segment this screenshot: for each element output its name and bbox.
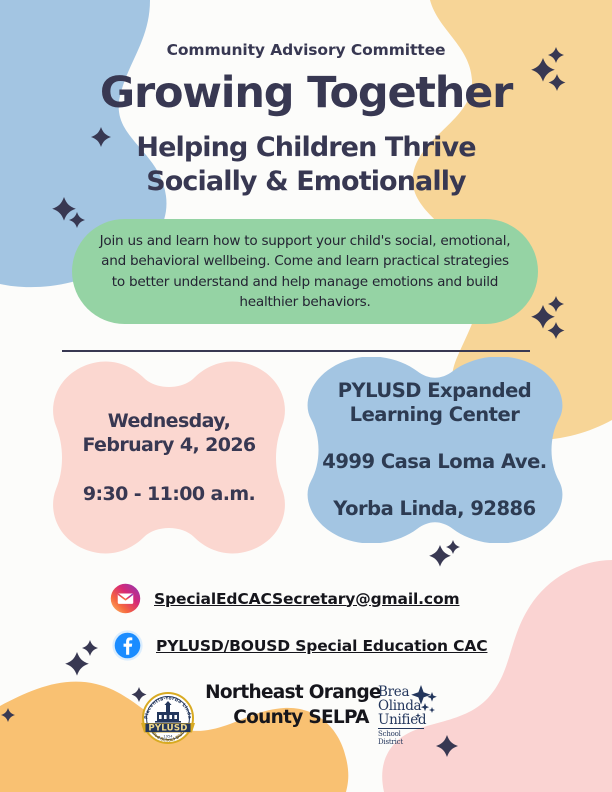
description-pill: Join us and learn how to support your ch… [72, 219, 538, 324]
kicker-text: Community Advisory Committee [0, 41, 612, 59]
contact-facebook-row[interactable]: PYLUSD/BOUSD Special Education CAC [112, 630, 487, 661]
page-title: Growing Together [0, 70, 612, 116]
facebook-icon[interactable] [112, 630, 143, 661]
selpa-line-2: County SELPA [214, 706, 388, 731]
address-line-1: 4999 Casa Loma Ave. [293, 450, 576, 475]
event-time: 9:30 - 11:00 a.m. [44, 483, 294, 505]
venue-line-2: Learning Center [293, 403, 576, 428]
contact-email-row[interactable]: SpecialEdCACSecretary@gmail.com [110, 583, 459, 614]
description-text: Join us and learn how to support your ch… [94, 231, 516, 313]
pylusd-banner-text: PYLUSD [148, 724, 187, 734]
brea-subtitle: School District [378, 728, 424, 746]
page-subtitle: Helping Children Thrive Socially & Emoti… [0, 131, 612, 199]
pylusd-year: 1954 [163, 735, 173, 739]
selpa-title: Northeast Orange County SELPA [198, 681, 388, 731]
selpa-line-1: Northeast Orange [198, 681, 388, 706]
pylusd-logo: Placentia-Yorba Linda Unified School Dis… [135, 690, 201, 746]
venue-line-1: PYLUSD Expanded [293, 379, 576, 404]
facebook-page-link[interactable]: PYLUSD/BOUSD Special Education CAC [156, 637, 487, 655]
address-line-2: Yorba Linda, 92886 [293, 497, 576, 522]
brea-olinda-logo: Brea Olinda Unified School District [378, 686, 442, 748]
email-icon[interactable] [110, 583, 141, 614]
flyer-page: Community Advisory Committee Growing Tog… [0, 0, 612, 792]
subtitle-line-2: Socially & Emotionally [0, 165, 612, 199]
event-date-card: Wednesday, February 4, 2026 9:30 - 11:00… [44, 360, 294, 555]
section-divider [62, 350, 530, 352]
email-address-link[interactable]: SpecialEdCACSecretary@gmail.com [154, 590, 459, 608]
event-date-line-1: Wednesday, [44, 410, 294, 434]
brea-stars-icon [408, 683, 442, 727]
event-location-card: PYLUSD Expanded Learning Center 4999 Cas… [293, 357, 576, 543]
subtitle-line-1: Helping Children Thrive [0, 131, 612, 165]
event-date-line-2: February 4, 2026 [44, 434, 294, 458]
